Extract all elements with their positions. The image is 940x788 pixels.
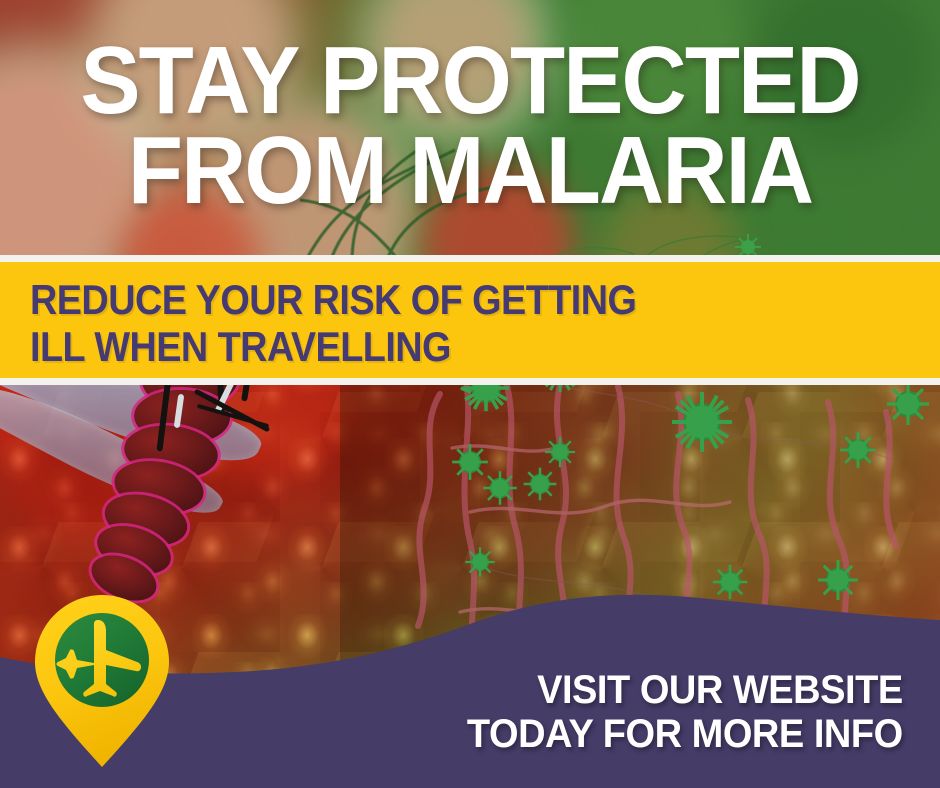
band-rule-top (0, 255, 940, 262)
call-to-action-text[interactable]: VISIT OUR WEBSITE TODAY FOR MORE INFO (467, 668, 903, 756)
map-pin-icon[interactable] (32, 592, 172, 770)
malaria-awareness-poster: STAY PROTECTED FROM MALARIA REDUCE YOUR … (0, 0, 940, 788)
page-title: STAY PROTECTED FROM MALARIA (28, 36, 912, 216)
subheadline-text: REDUCE YOUR RISK OF GETTING ILL WHEN TRA… (30, 276, 636, 370)
band-rule-bottom (0, 378, 940, 385)
